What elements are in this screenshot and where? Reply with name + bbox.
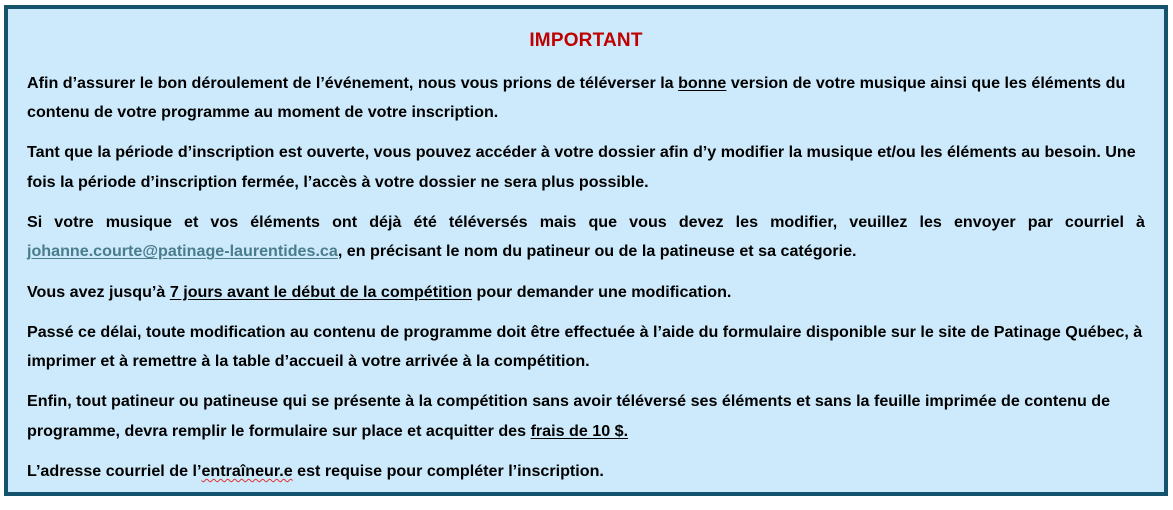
notice-paragraph-1: Afin d’assurer le bon déroulement de l’é… [27, 69, 1145, 128]
notice-paragraph-5: Passé ce délai, toute modification au co… [27, 318, 1145, 377]
p2-text: Tant que la période d’inscription est ou… [27, 143, 1136, 190]
notice-paragraph-4: Vous avez jusqu’à 7 jours avant le début… [27, 278, 1145, 307]
p7-text-after: est requise pour compléter l’inscription… [293, 462, 604, 480]
p7-spellcheck-word: entraîneur.e [201, 462, 292, 480]
important-notice-box: IMPORTANT Afin d’assurer le bon déroulem… [4, 5, 1168, 496]
p1-text-before: Afin d’assurer le bon déroulement de l’é… [27, 74, 678, 92]
p6-emphasis-fee: frais de 10 $. [531, 422, 629, 440]
notice-paragraph-7: L’adresse courriel de l’entraîneur.e est… [27, 457, 1145, 486]
notice-title: IMPORTANT [27, 31, 1145, 52]
p5-text: Passé ce délai, toute modification au co… [27, 323, 1142, 370]
notice-paragraph-2: Tant que la période d’inscription est ou… [27, 138, 1145, 197]
notice-paragraph-3: Si votre musique et vos éléments ont déj… [27, 208, 1145, 267]
p1-emphasis-bonne: bonne [678, 74, 726, 92]
p3-text-before: Si votre musique et vos éléments ont déj… [27, 213, 1145, 231]
p7-text-before: L’adresse courriel de l’ [27, 462, 201, 480]
notice-paragraph-6: Enfin, tout patineur ou patineuse qui se… [27, 387, 1145, 446]
p4-text-before: Vous avez jusqu’à [27, 283, 170, 301]
p4-text-after: pour demander une modification. [472, 283, 731, 301]
p4-emphasis-deadline: 7 jours avant le début de la compétition [170, 283, 472, 301]
notice-content: IMPORTANT Afin d’assurer le bon déroulem… [8, 9, 1164, 496]
p3-text-after: , en précisant le nom du patineur ou de … [338, 242, 857, 260]
contact-email-link[interactable]: johanne.courte@patinage-laurentides.ca [27, 242, 338, 260]
